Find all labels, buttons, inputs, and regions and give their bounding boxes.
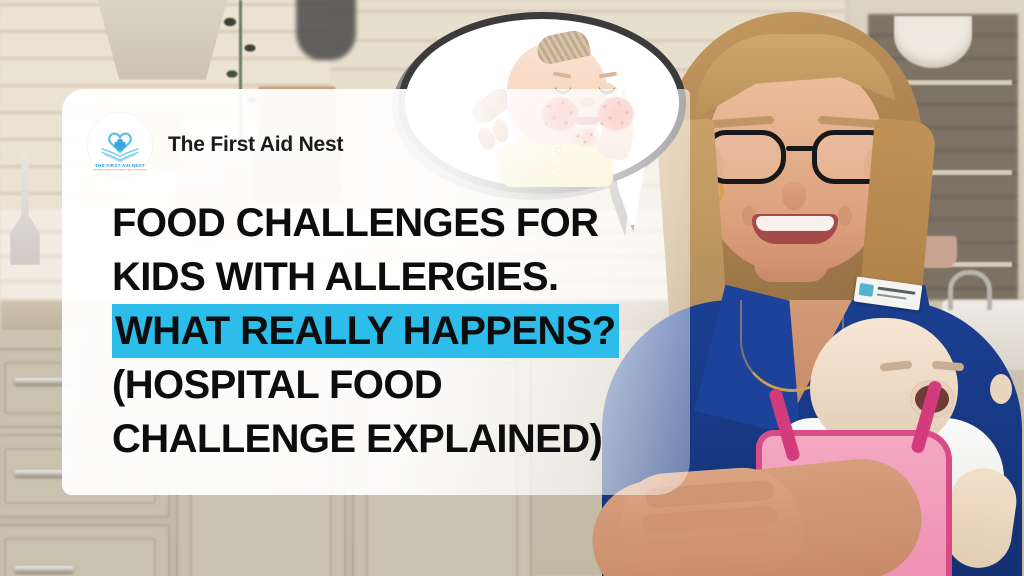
glasses-bridge (786, 146, 814, 151)
headline-row-3: (HOSPITAL FOOD (112, 358, 652, 412)
eyeglasses-icon (704, 130, 894, 186)
finger-3 (645, 532, 774, 561)
headline-row-4: CHALLENGE EXPLAINED) (112, 412, 652, 466)
smiling-mouth (752, 214, 838, 244)
headline-line-1: KIDS WITH ALLERGIES. (112, 255, 559, 299)
brand-lockup: THE FIRST AID NEST FIRST AID TRAINING FO… (88, 113, 343, 177)
headline-row-1: KIDS WITH ALLERGIES. (112, 250, 652, 304)
manikin-eye-left (880, 360, 913, 371)
brand-logo-tagline: FIRST AID TRAINING FOR PARENTS AND WORKP… (93, 169, 147, 172)
brand-name: The First Aid Nest (168, 133, 343, 157)
badge-role-line (877, 293, 907, 299)
baby-eyebrow-left (553, 71, 571, 78)
headline-line-4: CHALLENGE EXPLAINED) (112, 417, 602, 461)
cheek-right (838, 206, 852, 226)
badge-logo-icon (859, 283, 875, 297)
headline-line-0: FOOD CHALLENGES FOR (112, 201, 598, 245)
faucet-icon (948, 270, 992, 310)
manikin-eye-right (932, 361, 965, 372)
manikin-ear (990, 374, 1012, 404)
shelf-decor-dark (296, 0, 356, 60)
headline-row-0: FOOD CHALLENGES FOR (112, 196, 652, 250)
brand-logo-text: THE FIRST AID NEST (95, 163, 145, 168)
finger-2 (641, 505, 778, 534)
nose (782, 182, 806, 210)
headline-line-3: (HOSPITAL FOOD (112, 363, 442, 407)
brand-logo-icon: THE FIRST AID NEST FIRST AID TRAINING FO… (88, 113, 152, 177)
headline-row-2: WHAT REALLY HAPPENS? (112, 304, 652, 358)
baby-eyebrow-right (599, 71, 617, 78)
thumbnail-canvas: THE FIRST AID NEST FIRST AID TRAINING FO… (0, 0, 1024, 576)
drawer-handle-3 (14, 566, 74, 573)
headline: FOOD CHALLENGES FOR KIDS WITH ALLERGIES.… (112, 196, 652, 466)
headline-line-2-highlighted: WHAT REALLY HAPPENS? (112, 304, 619, 358)
